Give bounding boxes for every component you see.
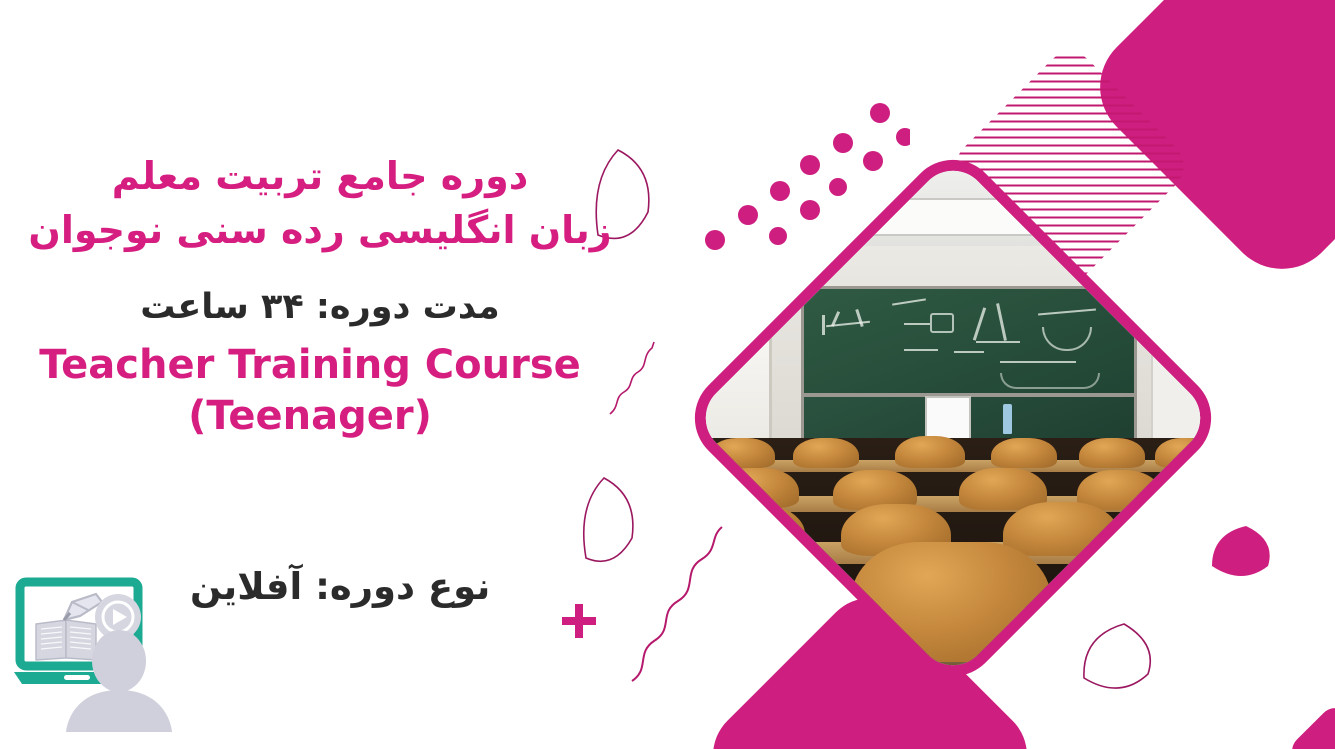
plus-icon (562, 604, 596, 638)
corner-diamond-bottom-right (1286, 702, 1335, 749)
title-en-line2: (Teenager) (188, 393, 432, 439)
classroom-photo (676, 141, 1230, 695)
title-fa-line2: زبان انگلیسی رده سنی نوجوان (28, 208, 611, 252)
page-title-english: Teacher Training Course (Teenager) (0, 340, 640, 442)
leaf-outline-decor-bottom (1076, 618, 1162, 700)
open-book-icon (36, 620, 96, 660)
course-type: نوع دوره: آفلاین (190, 568, 490, 605)
title-en-line1: Teacher Training Course (39, 342, 581, 388)
leaf-filled-decor (1208, 522, 1278, 586)
leaf-outline-decor-middle (576, 470, 642, 570)
squiggle-decor-large (626, 525, 736, 685)
poster-canvas: دوره جامع تربیت معلم زبان انگلیسی رده سن… (0, 0, 1335, 749)
title-fa-line1: دوره جامع تربیت معلم (112, 154, 528, 198)
elearning-laptop-person-icon (12, 572, 182, 732)
page-title: دوره جامع تربیت معلم زبان انگلیسی رده سن… (0, 150, 640, 258)
text-block: دوره جامع تربیت معلم زبان انگلیسی رده سن… (0, 150, 640, 442)
classroom-photo-frame (676, 141, 1230, 695)
course-duration: مدت دوره: ۳۴ ساعت (0, 286, 640, 328)
corner-diamond-top-right (1077, 0, 1335, 292)
